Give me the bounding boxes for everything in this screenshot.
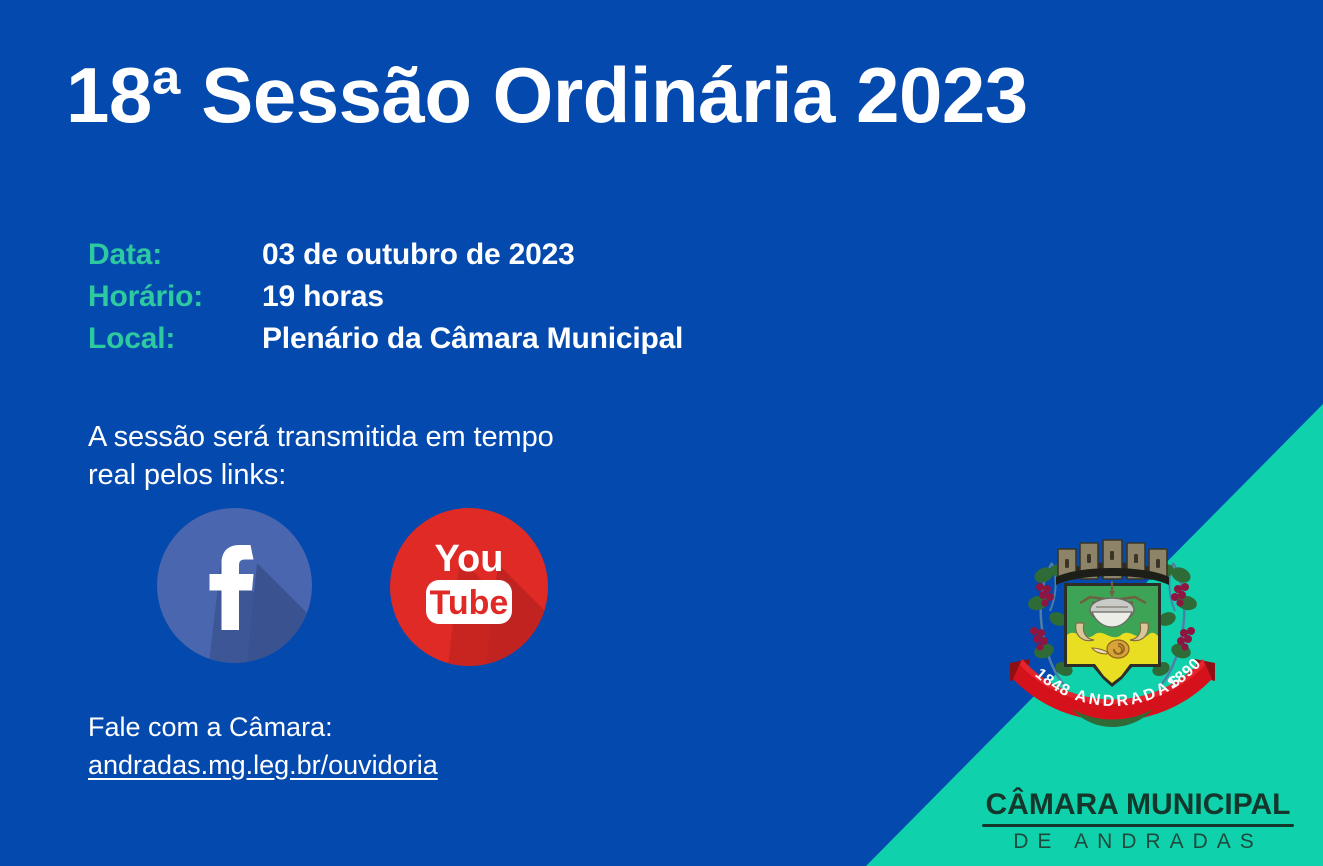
coat-of-arms-andradas: 1848 ANDRADAS 1890 xyxy=(1000,527,1225,742)
detail-label-horario: Horário: xyxy=(88,280,262,314)
wordmark-sub: DE ANDRADAS xyxy=(978,830,1298,854)
page-title: 18ª Sessão Ordinária 2023 xyxy=(66,52,1028,138)
svg-text:Tube: Tube xyxy=(430,584,509,622)
broadcast-note-line1: A sessão será transmitida em tempo xyxy=(88,418,554,456)
detail-value-data: 03 de outubro de 2023 xyxy=(262,238,575,272)
facebook-icon[interactable] xyxy=(157,508,312,663)
youtube-wordmark-glyph: You Tube xyxy=(390,508,548,666)
detail-row-data: Data: 03 de outubro de 2023 xyxy=(88,238,683,280)
broadcast-note-line2: real pelos links: xyxy=(88,456,554,494)
detail-label-data: Data: xyxy=(88,238,262,272)
youtube-icon[interactable]: You Tube xyxy=(390,508,548,666)
facebook-f-glyph xyxy=(157,508,312,663)
detail-label-local: Local: xyxy=(88,322,262,356)
poster-canvas: 18ª Sessão Ordinária 2023 Data: 03 de ou… xyxy=(0,0,1323,866)
session-details: Data: 03 de outubro de 2023 Horário: 19 … xyxy=(88,238,683,364)
detail-value-local: Plenário da Câmara Municipal xyxy=(262,322,683,356)
detail-value-horario: 19 horas xyxy=(262,280,384,314)
camara-wordmark: CÂMARA MUNICIPAL DE ANDRADAS xyxy=(978,788,1298,854)
contact-block: Fale com a Câmara: andradas.mg.leg.br/ou… xyxy=(88,708,438,784)
detail-row-horario: Horário: 19 horas xyxy=(88,280,683,322)
shield xyxy=(1064,581,1161,687)
svg-text:You: You xyxy=(435,538,504,580)
social-links: You Tube xyxy=(157,508,548,666)
mural-crown-icon xyxy=(1056,540,1169,585)
contact-label: Fale com a Câmara: xyxy=(88,708,438,746)
ouvidoria-link[interactable]: andradas.mg.leg.br/ouvidoria xyxy=(88,746,438,784)
broadcast-note: A sessão será transmitida em tempo real … xyxy=(88,418,554,494)
detail-row-local: Local: Plenário da Câmara Municipal xyxy=(88,322,683,364)
wordmark-rule xyxy=(982,824,1294,827)
wordmark-main: CÂMARA MUNICIPAL xyxy=(978,788,1298,822)
